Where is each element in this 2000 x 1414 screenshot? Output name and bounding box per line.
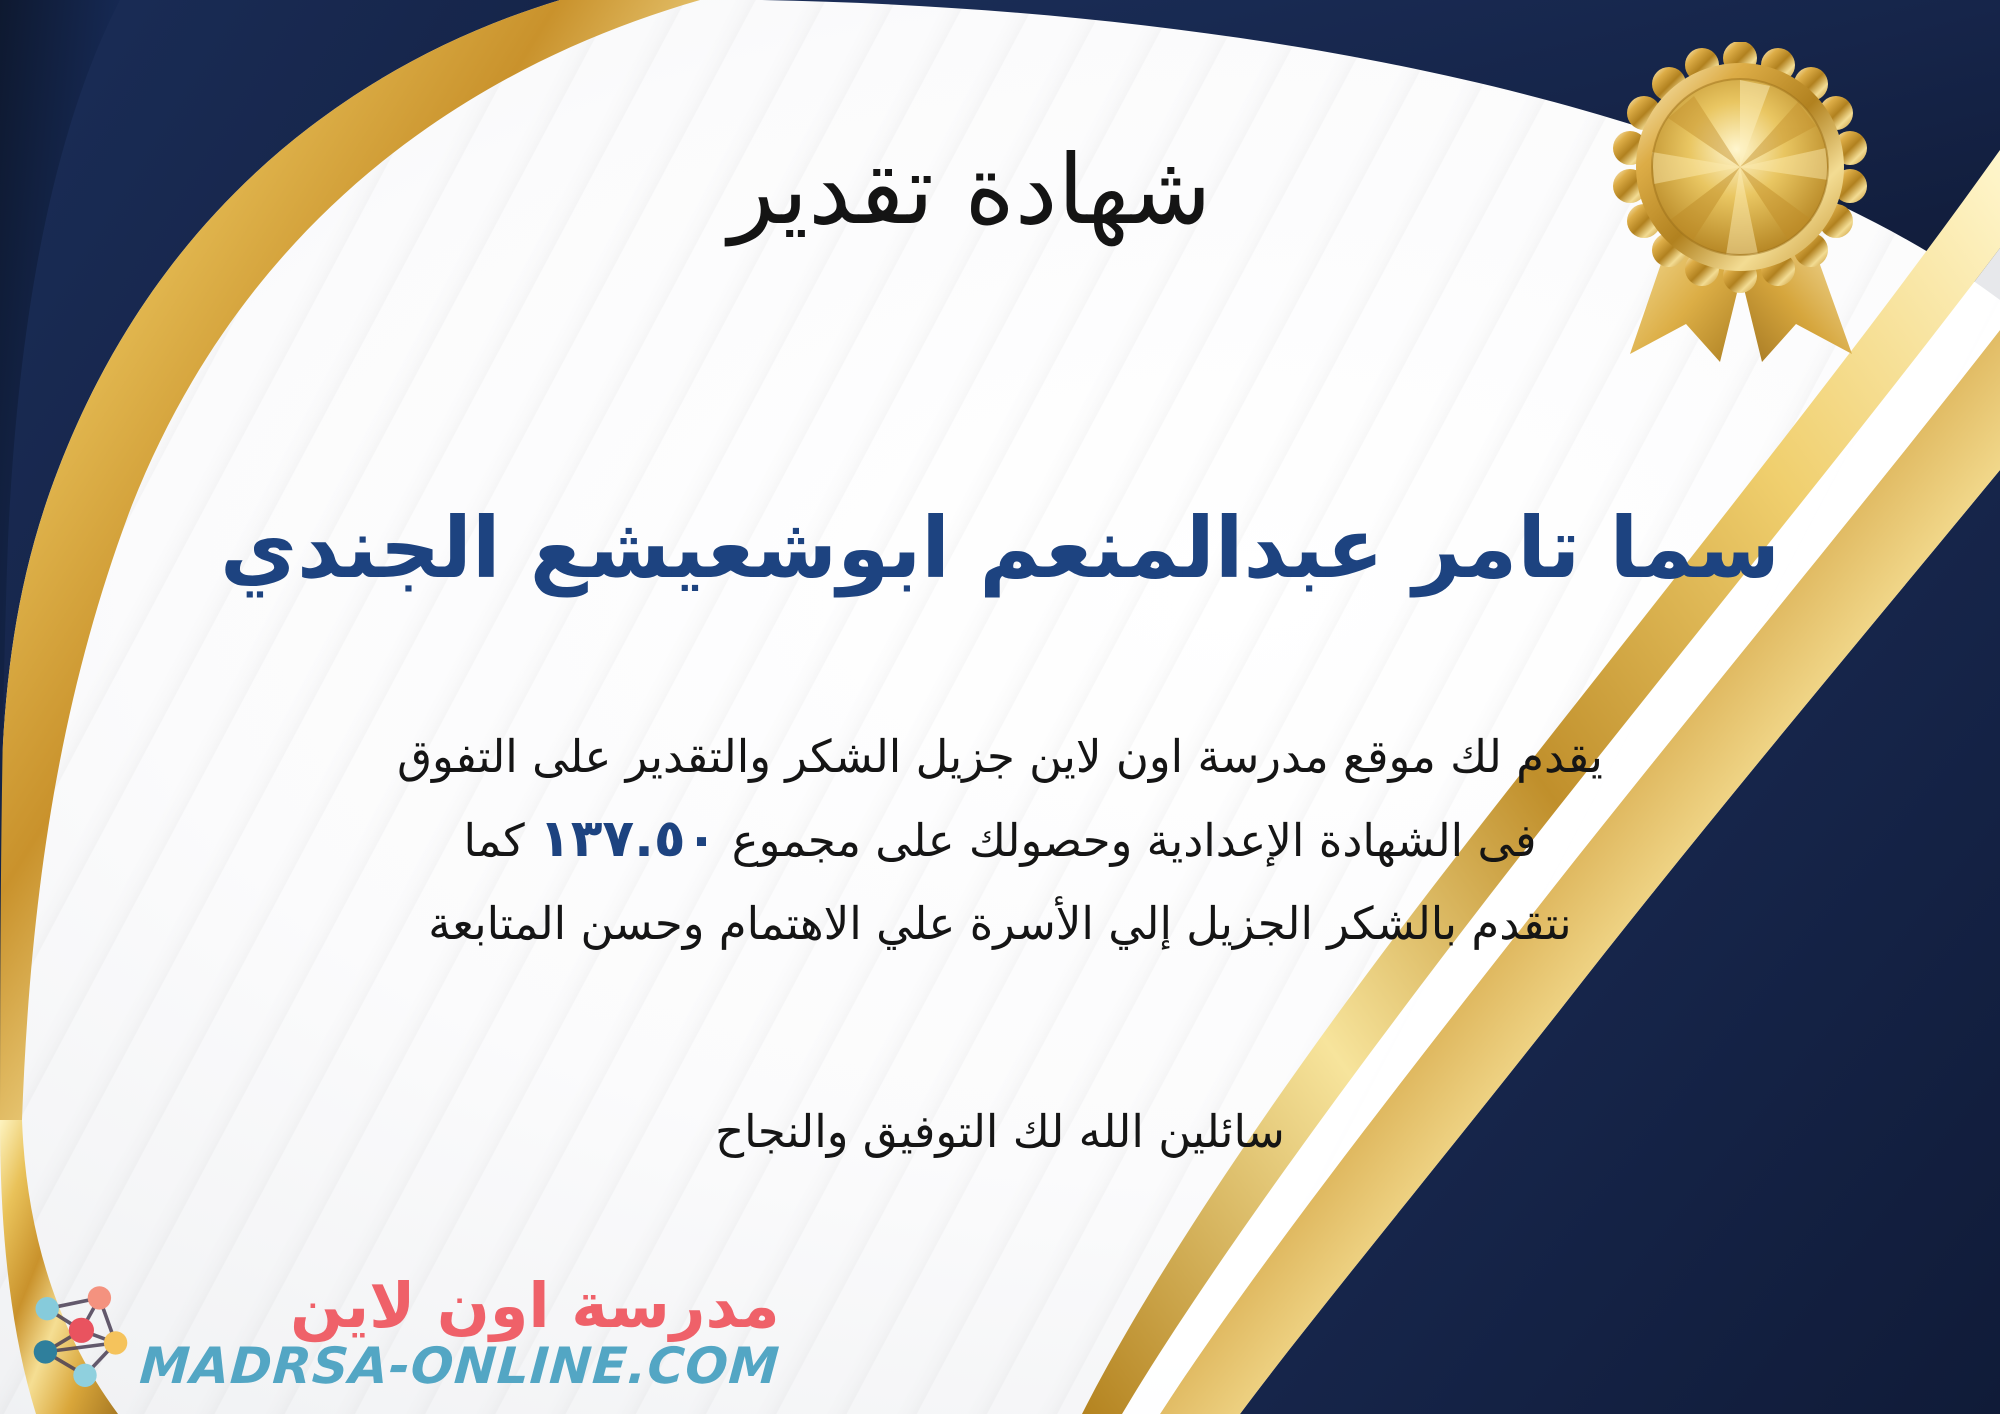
body-line-2: فى الشهادة الإعدادية وحصولك على مجموع ١٣… <box>40 795 1960 884</box>
body-line-3: نتقدم بالشكر الجزيل إلي الأسرة علي الاهت… <box>40 885 1960 962</box>
brand-text: مدرسة اون لاين MADRSA-ONLINE.COM <box>140 1275 780 1391</box>
body-line-2-suffix: كما <box>463 814 524 867</box>
body-line-2-prefix: فى الشهادة الإعدادية وحصولك على مجموع <box>732 814 1537 867</box>
certificate-body: يقدم لك موقع مدرسة اون لاين جزيل الشكر و… <box>40 718 1960 962</box>
network-nodes-logo-icon <box>22 1274 130 1392</box>
certificate-content: شهادة تقدير سما تامر عبدالمنعم ابوشعيشع … <box>0 0 2000 1414</box>
grade-total: ١٣٧.٥٠ <box>539 809 717 869</box>
closing-line: سائلين الله لك التوفيق والنجاح <box>0 1105 2000 1158</box>
recipient-name: سما تامر عبدالمنعم ابوشعيشع الجندي <box>0 500 2000 597</box>
body-line-1: يقدم لك موقع مدرسة اون لاين جزيل الشكر و… <box>40 718 1960 795</box>
page-title: شهادة تقدير <box>0 138 2000 244</box>
brand-website: MADRSA-ONLINE.COM <box>138 1341 781 1391</box>
brand-logo[interactable]: مدرسة اون لاين MADRSA-ONLINE.COM <box>22 1274 780 1392</box>
certificate-canvas: شهادة تقدير سما تامر عبدالمنعم ابوشعيشع … <box>0 0 2000 1414</box>
brand-name-arabic: مدرسة اون لاين <box>140 1275 780 1337</box>
